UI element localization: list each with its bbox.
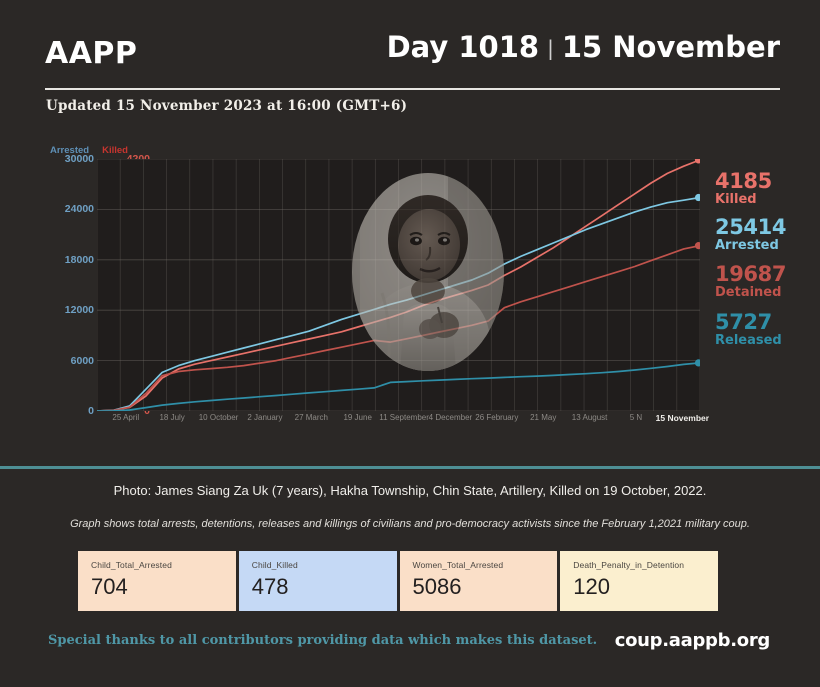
section-divider xyxy=(0,466,820,469)
stat-box-value: 704 xyxy=(91,574,236,600)
y-arrested-tick: 30000 xyxy=(65,153,94,165)
thanks-message: Special thanks to all contributors provi… xyxy=(48,633,597,648)
stat-box-key: Child_Total_Arrested xyxy=(91,560,236,570)
x-axis-tick-label: 26 February xyxy=(475,413,518,422)
x-axis-tick-label: 5 N xyxy=(630,413,642,422)
x-axis-tick-label: 15 November xyxy=(656,413,709,423)
stat-box: Child_Total_Arrested704 xyxy=(78,551,236,611)
day-date-separator: | xyxy=(547,36,554,60)
callout-killed-label: Killed xyxy=(715,193,772,207)
callout-released-value: 5727 xyxy=(715,312,782,333)
y-arrested-tick: 6000 xyxy=(71,355,94,367)
graph-note: Graph shows total arrests, detentions, r… xyxy=(0,518,820,530)
series-endpoint-detained xyxy=(695,242,700,249)
x-axis-tick-label: 4 December xyxy=(429,413,473,422)
organization-name: AAPP xyxy=(45,36,137,71)
x-axis-tick-label: 27 March xyxy=(295,413,328,422)
x-axis-tick-label: 2 January xyxy=(247,413,282,422)
stat-box: Death_Penalty_in_Detention120 xyxy=(560,551,718,611)
series-endpoint-arrested xyxy=(695,194,700,201)
cumulative-line-chart: ArrestedKilled 0600012000180002400030000… xyxy=(40,145,785,435)
x-axis-tick-label: 18 July xyxy=(159,413,184,422)
y-axis-arrested: 0600012000180002400030000 xyxy=(40,159,94,411)
poster-header: AAPP Day 1018 | 15 November xyxy=(45,30,780,88)
chart-gridlines xyxy=(97,159,700,411)
callout-arrested-value: 25414 xyxy=(715,217,786,238)
day-counter: Day 1018 xyxy=(387,30,539,64)
callout-arrested: 25414 Arrested xyxy=(715,217,786,253)
header-divider xyxy=(45,88,780,90)
axis-legend-killed: Killed xyxy=(102,145,128,156)
aapp-daily-briefing-poster: AAPP Day 1018 | 15 November Updated 15 N… xyxy=(0,0,820,687)
stat-box-key: Women_Total_Arrested xyxy=(413,560,558,570)
x-axis-tick-label: 11 September xyxy=(379,413,429,422)
stat-box-value: 5086 xyxy=(413,574,558,600)
callout-detained: 19687 Detained xyxy=(715,264,786,300)
stat-box-key: Death_Penalty_in_Detention xyxy=(573,560,718,570)
x-axis-labels: 25 April18 July10 October2 January27 Mar… xyxy=(97,413,757,433)
callout-released: 5727 Released xyxy=(715,312,782,348)
callout-killed: 4185 Killed xyxy=(715,171,772,207)
series-endpoint-killed xyxy=(695,159,700,164)
updated-timestamp: Updated 15 November 2023 at 16:00 (GMT+6… xyxy=(46,98,407,114)
y-arrested-tick: 0 xyxy=(88,405,94,417)
x-axis-tick-label: 21 May xyxy=(530,413,556,422)
callout-released-label: Released xyxy=(715,334,782,348)
x-axis-tick-label: 13 August xyxy=(572,413,608,422)
chart-svg xyxy=(97,159,700,411)
x-axis-tick-label: 19 June xyxy=(343,413,371,422)
x-axis-tick-label: 25 April xyxy=(112,413,139,422)
callout-detained-value: 19687 xyxy=(715,264,786,285)
stat-box-value: 478 xyxy=(252,574,397,600)
stat-box-key: Child_Killed xyxy=(252,560,397,570)
chart-plot-area xyxy=(97,159,700,411)
report-date: 15 November xyxy=(562,30,780,64)
y-arrested-tick: 12000 xyxy=(65,304,94,316)
summary-stat-boxes: Child_Total_Arrested704Child_Killed478Wo… xyxy=(78,551,718,611)
callout-detained-label: Detained xyxy=(715,286,786,300)
y-arrested-tick: 24000 xyxy=(65,203,94,215)
x-axis-tick-label: 10 October xyxy=(199,413,239,422)
callout-arrested-label: Arrested xyxy=(715,239,786,253)
photo-caption: Photo: James Siang Za Uk (7 years), Hakh… xyxy=(0,483,820,498)
stat-box: Child_Killed478 xyxy=(239,551,397,611)
day-and-date: Day 1018 | 15 November xyxy=(387,30,780,64)
callout-killed-value: 4185 xyxy=(715,171,772,192)
stat-box-value: 120 xyxy=(573,574,718,600)
website-url[interactable]: coup.aappb.org xyxy=(615,630,770,651)
y-arrested-tick: 18000 xyxy=(65,254,94,266)
stat-box: Women_Total_Arrested5086 xyxy=(400,551,558,611)
